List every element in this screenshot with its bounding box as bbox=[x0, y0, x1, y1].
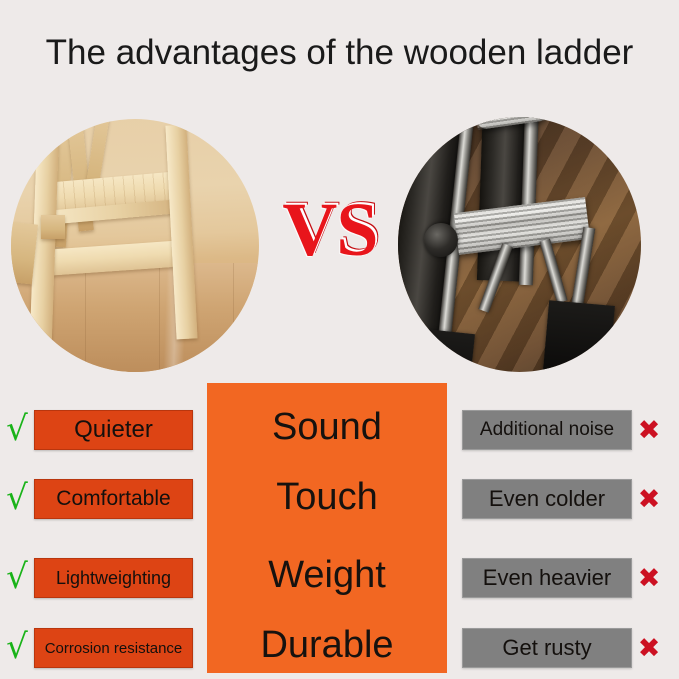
wood-pill-quieter-label: Quieter bbox=[68, 416, 159, 444]
wood-row-touch: √ Comfortable bbox=[0, 479, 207, 519]
metal-pill-even-heavier-label: Even heavier bbox=[477, 565, 617, 591]
metal-pill-even-heavier[interactable]: Even heavier bbox=[462, 558, 632, 598]
metal-pill-get-rusty-label: Get rusty bbox=[496, 635, 597, 661]
metal-row-touch: Even colder ✖ bbox=[447, 479, 679, 519]
cross-icon: ✖ bbox=[632, 486, 666, 513]
metal-row-weight: Even heavier ✖ bbox=[447, 558, 679, 598]
infographic-page: The advantages of the wooden ladder bbox=[0, 0, 679, 679]
wood-row-weight: √ Lightweighting bbox=[0, 558, 207, 598]
wood-pill-comfortable-label: Comfortable bbox=[50, 487, 176, 511]
metal-pill-additional-noise[interactable]: Additional noise bbox=[462, 410, 632, 450]
wood-pill-lightweighting[interactable]: Lightweighting bbox=[34, 558, 193, 598]
wood-row-durable: √ Corrosion resistance bbox=[0, 628, 207, 668]
check-icon: √ bbox=[0, 481, 34, 515]
photo-metal-ladder bbox=[398, 117, 641, 372]
attribute-panel: Sound Touch Weight Durable bbox=[207, 383, 447, 673]
vs-label: VS bbox=[270, 190, 390, 270]
attribute-touch: Touch bbox=[207, 475, 447, 519]
photo-wooden-ladder bbox=[11, 119, 259, 372]
wood-pill-lightweighting-label: Lightweighting bbox=[50, 568, 177, 589]
metal-pill-even-colder-label: Even colder bbox=[483, 486, 611, 512]
attribute-durable: Durable bbox=[207, 623, 447, 667]
wood-pill-quieter[interactable]: Quieter bbox=[34, 410, 193, 450]
page-title: The advantages of the wooden ladder bbox=[0, 30, 679, 76]
photo-wooden-ladder-art bbox=[11, 119, 259, 372]
metal-foot-bracket bbox=[543, 300, 615, 372]
cross-icon: ✖ bbox=[632, 417, 666, 444]
photo-metal-ladder-art bbox=[398, 117, 641, 372]
metal-pill-even-colder[interactable]: Even colder bbox=[462, 479, 632, 519]
wood-pill-corrosion-resistance[interactable]: Corrosion resistance bbox=[34, 628, 193, 668]
wood-pill-corrosion-resistance-label: Corrosion resistance bbox=[39, 640, 189, 657]
cross-icon: ✖ bbox=[632, 565, 666, 592]
wood-row-sound: √ Quieter bbox=[0, 410, 207, 450]
metal-pivot-knob bbox=[424, 223, 458, 257]
metal-row-durable: Get rusty ✖ bbox=[447, 628, 679, 668]
check-icon: √ bbox=[0, 560, 34, 594]
wood-pill-comfortable[interactable]: Comfortable bbox=[34, 479, 193, 519]
attribute-sound: Sound bbox=[207, 405, 447, 449]
metal-pill-additional-noise-label: Additional noise bbox=[474, 419, 620, 441]
wood-joint-block bbox=[41, 215, 65, 239]
check-icon: √ bbox=[0, 412, 34, 446]
metal-foot-bracket-2 bbox=[411, 328, 475, 372]
metal-row-sound: Additional noise ✖ bbox=[447, 410, 679, 450]
metal-pill-get-rusty[interactable]: Get rusty bbox=[462, 628, 632, 668]
cross-icon: ✖ bbox=[632, 635, 666, 662]
check-icon: √ bbox=[0, 630, 34, 664]
attribute-weight: Weight bbox=[207, 553, 447, 597]
